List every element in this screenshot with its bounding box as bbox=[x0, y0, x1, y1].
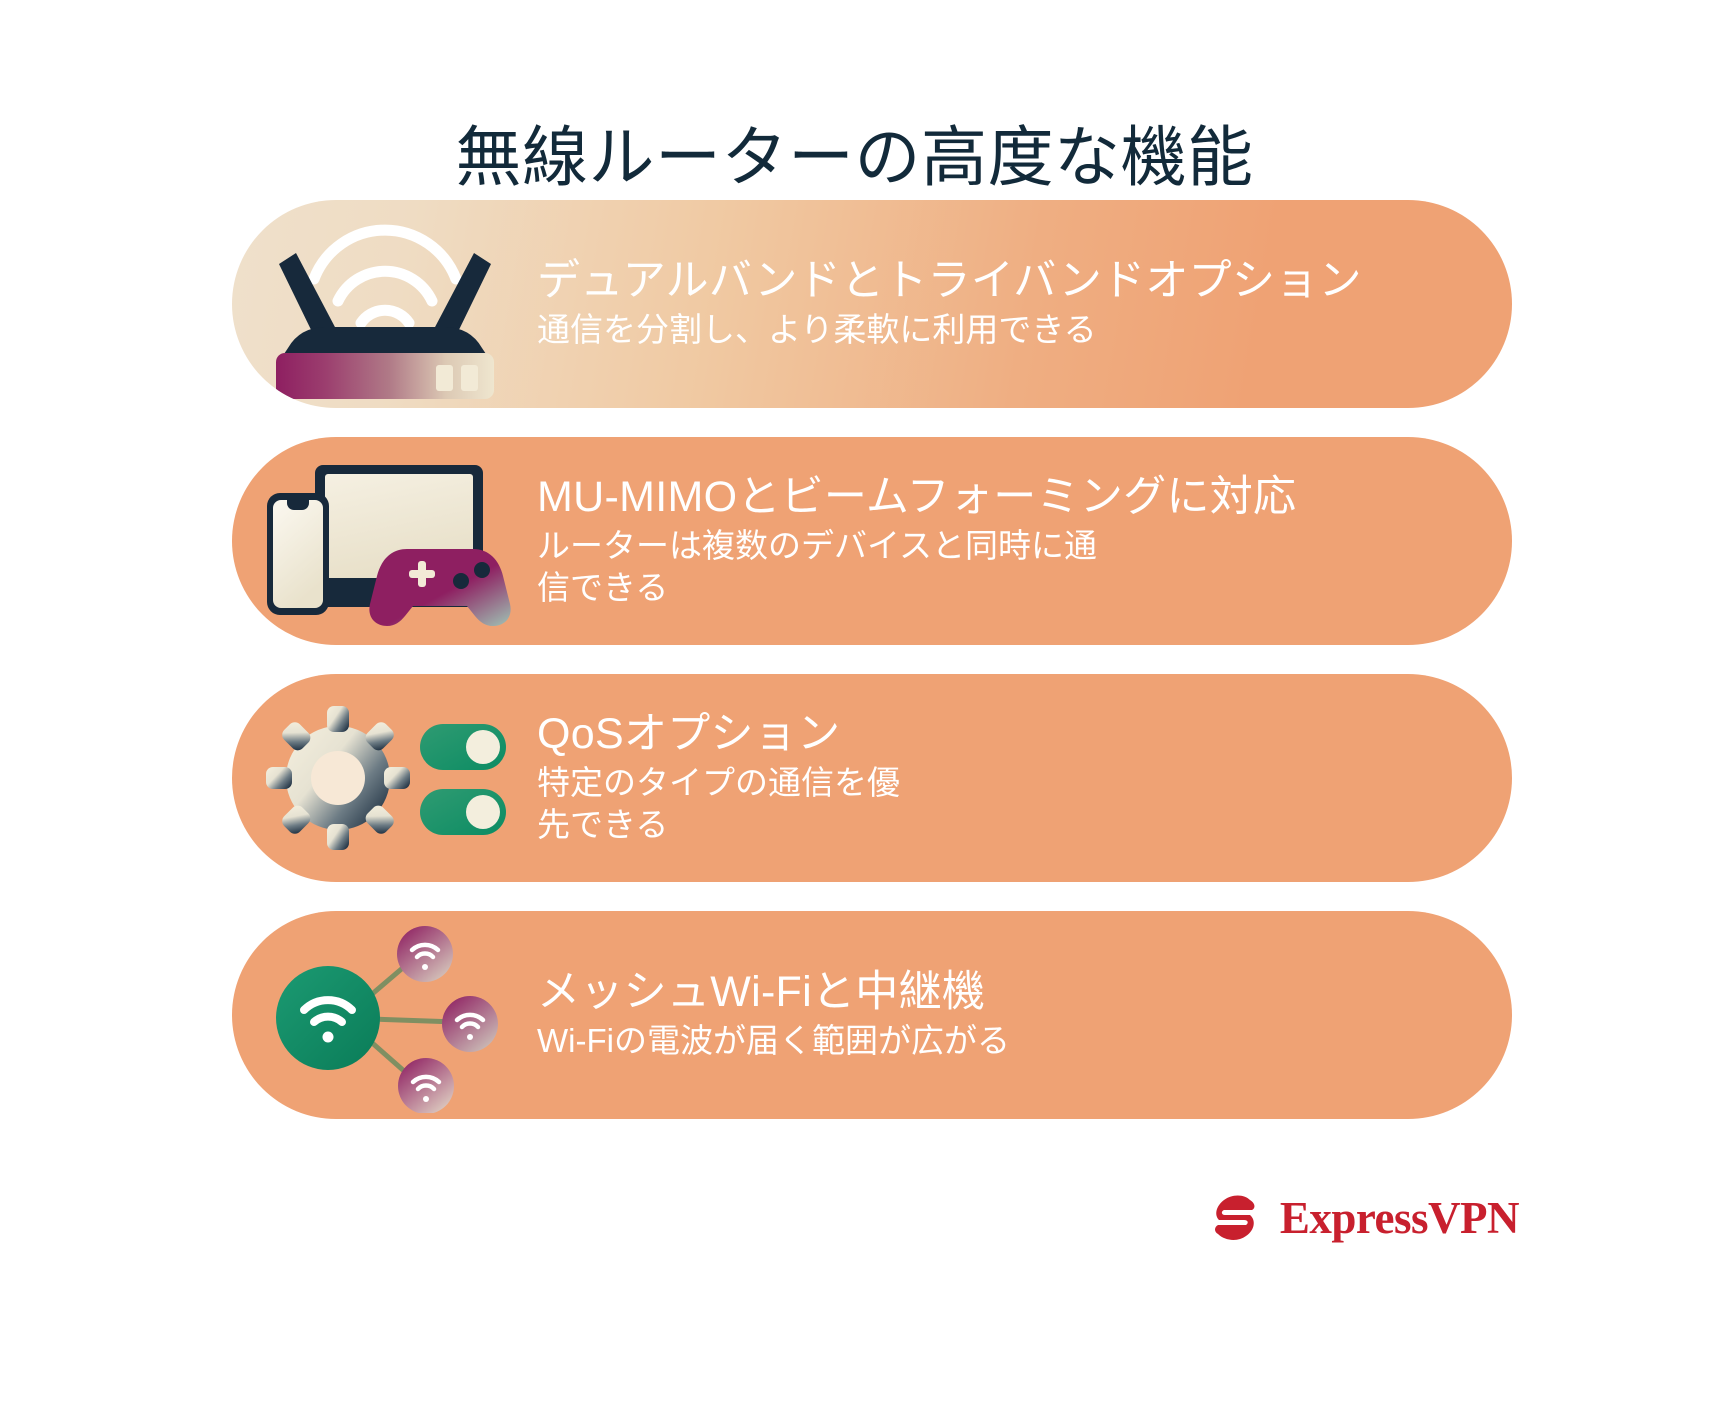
feature-card-text: MU-MIMOとビームフォーミングに対応 ルーターは複数のデバイスと同時に通 信… bbox=[537, 473, 1336, 610]
expressvpn-mark-icon bbox=[1204, 1187, 1266, 1249]
feature-card-text: QoSオプション 特定のタイプの通信を優 先できる bbox=[537, 710, 940, 847]
wireless-router-icon bbox=[232, 200, 537, 408]
feature-card-text: デュアルバンドとトライバンドオプション 通信を分割し、より柔軟に利用できる bbox=[537, 257, 1402, 351]
feature-card-dual-band: デュアルバンドとトライバンドオプション 通信を分割し、より柔軟に利用できる bbox=[232, 200, 1512, 408]
feature-card-title: メッシュWi-Fiと中継機 bbox=[537, 968, 1010, 1016]
feature-card-title: デュアルバンドとトライバンドオプション bbox=[537, 257, 1362, 305]
feature-card-subtitle: Wi-Fiの電波が届く範囲が広がる bbox=[537, 1020, 1010, 1062]
feature-card-subtitle: ルーターは複数のデバイスと同時に通 信できる bbox=[537, 525, 1296, 609]
feature-card-subtitle: 特定のタイプの通信を優 先できる bbox=[537, 762, 900, 846]
feature-card-mu-mimo: MU-MIMOとビームフォーミングに対応 ルーターは複数のデバイスと同時に通 信… bbox=[232, 437, 1512, 645]
feature-card-qos: QoSオプション 特定のタイプの通信を優 先できる bbox=[232, 674, 1512, 882]
feature-card-mesh-wifi: メッシュWi-Fiと中継機 Wi-Fiの電波が届く範囲が広がる bbox=[232, 911, 1512, 1119]
feature-card-title: QoSオプション bbox=[537, 710, 900, 758]
expressvpn-wordmark: ExpressVPN bbox=[1280, 1196, 1519, 1241]
feature-card-list: デュアルバンドとトライバンドオプション 通信を分割し、より柔軟に利用できる bbox=[232, 200, 1512, 1148]
infographic-page: 無線ルーターの高度な機能 bbox=[0, 0, 1709, 1409]
expressvpn-logo: ExpressVPN bbox=[1204, 1187, 1519, 1249]
feature-card-subtitle: 通信を分割し、より柔軟に利用できる bbox=[537, 309, 1362, 351]
feature-card-text: メッシュWi-Fiと中継機 Wi-Fiの電波が届く範囲が広がる bbox=[537, 968, 1050, 1062]
feature-card-title: MU-MIMOとビームフォーミングに対応 bbox=[537, 473, 1296, 521]
mesh-wifi-icon bbox=[232, 911, 537, 1119]
page-title: 無線ルーターの高度な機能 bbox=[0, 120, 1709, 196]
multiple-devices-icon bbox=[232, 437, 537, 645]
gear-toggles-icon bbox=[232, 674, 537, 882]
